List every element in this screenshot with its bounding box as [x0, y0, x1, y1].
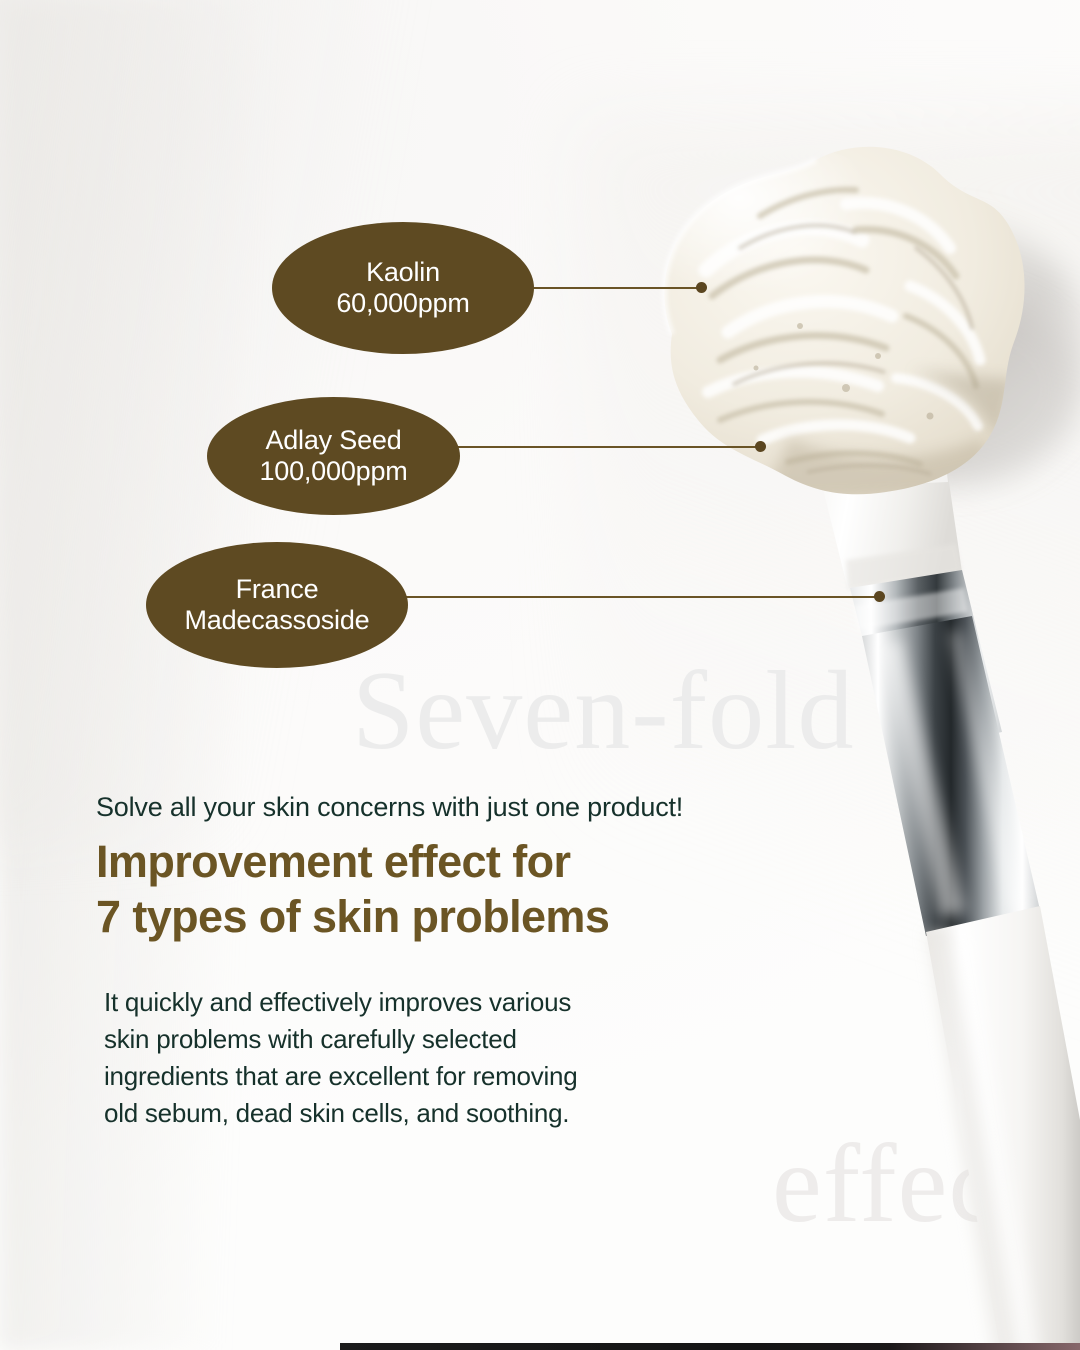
body-copy: It quickly and effectively improves vari… — [104, 984, 724, 1132]
callout-adlay-line2: 100,000ppm — [259, 456, 407, 487]
bottom-strip — [340, 1343, 1080, 1350]
headline-line-2: 7 types of skin problems — [96, 890, 736, 945]
callout-kaolin[interactable]: Kaolin 60,000ppm — [272, 222, 534, 354]
body-line-3: ingredients that are excellent for remov… — [104, 1058, 724, 1095]
callout-madecassoside[interactable]: France Madecassoside — [146, 542, 408, 668]
callout-adlay-line1: Adlay Seed — [265, 425, 401, 456]
leader-dot-kaolin — [696, 282, 707, 293]
leader-line-kaolin — [520, 287, 702, 289]
leader-line-madecassoside — [396, 596, 880, 598]
promo-page: Seven-fold effect — [0, 0, 1080, 1350]
body-line-2: skin problems with carefully selected — [104, 1021, 724, 1058]
leader-line-adlay — [450, 446, 760, 448]
callout-adlay[interactable]: Adlay Seed 100,000ppm — [207, 397, 460, 515]
callout-madecassoside-line1: France — [236, 574, 319, 605]
body-line-1: It quickly and effectively improves vari… — [104, 984, 724, 1021]
callout-kaolin-line1: Kaolin — [366, 257, 440, 288]
callout-kaolin-line2: 60,000ppm — [336, 288, 469, 319]
ingredient-callouts: Kaolin 60,000ppm Adlay Seed 100,000ppm F… — [0, 0, 1080, 1350]
callout-madecassoside-line2: Madecassoside — [184, 605, 369, 636]
headline-block: Solve all your skin concerns with just o… — [96, 792, 736, 945]
leader-dot-madecassoside — [874, 591, 885, 602]
body-line-4: old sebum, dead skin cells, and soothing… — [104, 1095, 724, 1132]
headline-line-1: Improvement effect for — [96, 835, 736, 890]
page-title: Improvement effect for 7 types of skin p… — [96, 835, 736, 945]
leader-dot-adlay — [755, 441, 766, 452]
kicker-text: Solve all your skin concerns with just o… — [96, 792, 736, 823]
bottom-strip-tail — [890, 1343, 1080, 1350]
